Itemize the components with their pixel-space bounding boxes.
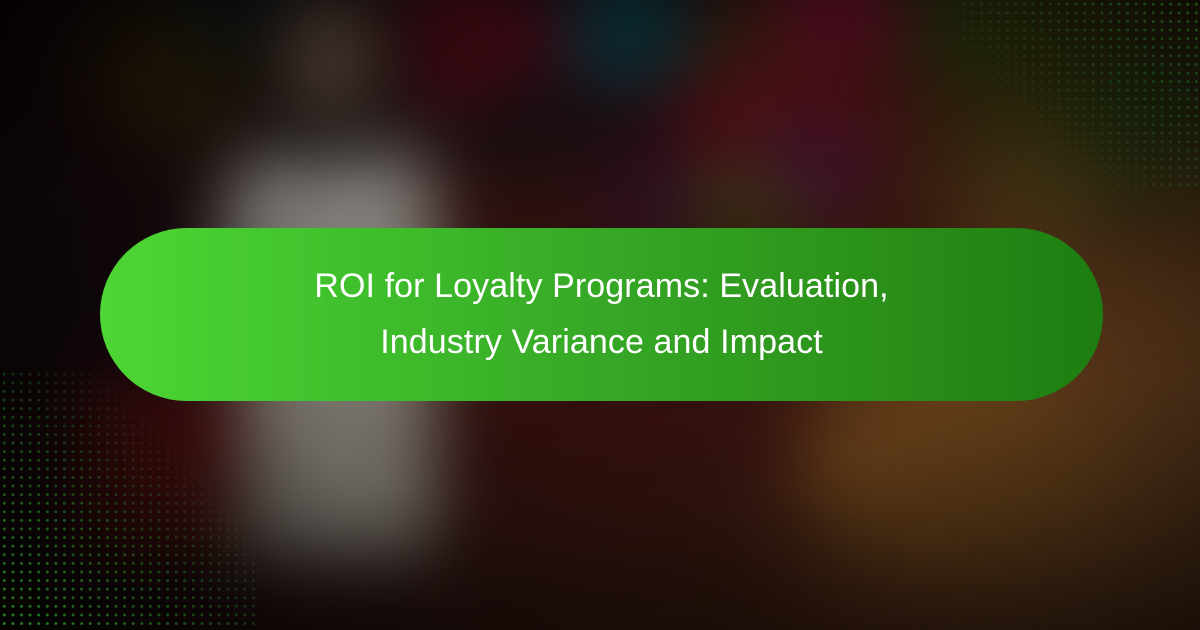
title-pill: ROI for Loyalty Programs: Evaluation, In…	[100, 228, 1103, 401]
share-card: ROI for Loyalty Programs: Evaluation, In…	[0, 0, 1200, 630]
page-title: ROI for Loyalty Programs: Evaluation, In…	[262, 259, 942, 369]
